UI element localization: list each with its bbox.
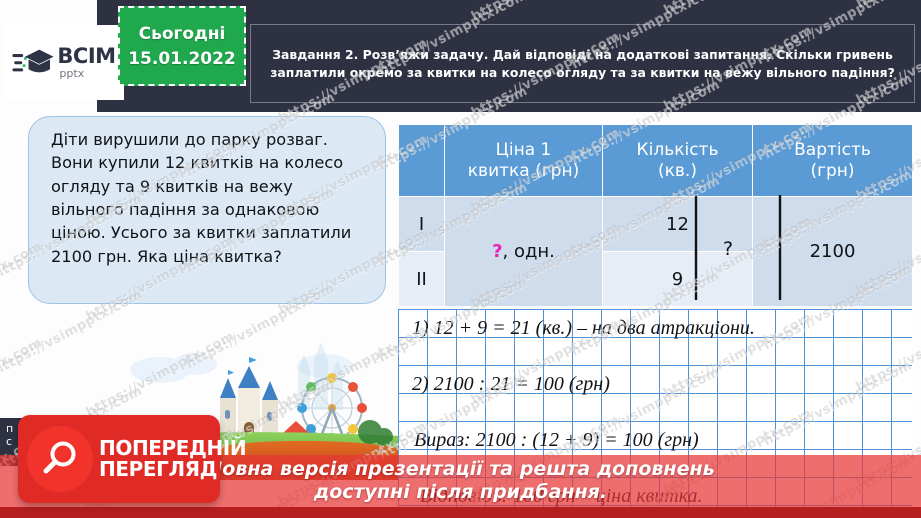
graduation-cap-icon bbox=[12, 46, 54, 80]
preview-badge[interactable]: ПОПЕРЕДНІЙ ПЕРЕГЛЯД bbox=[18, 415, 220, 503]
promo-footer-strip bbox=[0, 507, 921, 518]
preview-label-line2: ПЕРЕГЛЯД bbox=[99, 459, 246, 480]
preview-label-line1: ПОПЕРЕДНІЙ bbox=[99, 438, 246, 459]
table-header-quantity: Кількість (кв.) bbox=[603, 125, 753, 197]
table-header-index bbox=[399, 125, 445, 197]
brand-logo: ВСІМ pptx bbox=[4, 25, 124, 100]
problem-statement-bubble: Діти вирушили до парку розваг. Вони купи… bbox=[28, 116, 386, 304]
cost-total-cell: 2100 bbox=[753, 197, 913, 307]
today-date: 15.01.2022 bbox=[128, 49, 236, 69]
today-label: Сьогодні bbox=[139, 24, 226, 44]
promo-line-1: Повна версія презентації та решта доповн… bbox=[206, 458, 714, 480]
promo-text: Повна версія презентації та решта доповн… bbox=[206, 458, 714, 504]
today-date-badge: Сьогодні 15.01.2022 bbox=[118, 6, 246, 86]
qty-cell-1: 12 bbox=[603, 197, 753, 252]
magnifier-icon bbox=[38, 437, 82, 481]
row-index-1: I bbox=[399, 197, 445, 252]
problem-data-table: Ціна 1 квитка (грн) Кількість (кв.) Варт… bbox=[398, 124, 913, 307]
row-index-2: II bbox=[399, 252, 445, 307]
promo-line-2: доступні після придбання. bbox=[314, 481, 607, 503]
problem-statement-text: Діти вирушили до парку розваг. Вони купи… bbox=[51, 128, 369, 268]
task-title-text: Завдання 2. Розв’яжи задачу. Дай відпові… bbox=[260, 46, 905, 81]
preview-icon-circle bbox=[27, 426, 93, 492]
table-row: I ?, одн. 12 2100 bbox=[399, 197, 913, 252]
task-title-box: Завдання 2. Розв’яжи задачу. Дай відпові… bbox=[250, 24, 915, 103]
solution-step-1: 1) 12 + 9 = 21 (кв.) – на два атракціони… bbox=[398, 317, 912, 340]
price-cell: ?, одн. bbox=[445, 197, 603, 307]
slide-canvas: ВСІМ pptx Сьогодні 15.01.2022 Завдання 2… bbox=[0, 0, 921, 518]
logo-subtitle: pptx bbox=[59, 68, 115, 79]
solution-step-2: 2) 2100 : 21 = 100 (грн) bbox=[398, 373, 912, 396]
logo-title: ВСІМ bbox=[57, 46, 115, 67]
solution-expression: Вираз: 2100 : (12 + 9) = 100 (грн) bbox=[398, 429, 912, 452]
table-header-cost: Вартість (грн) bbox=[753, 125, 913, 197]
table-header-price: Ціна 1 квитка (грн) bbox=[445, 125, 603, 197]
qty-cell-2: 9 bbox=[603, 252, 753, 307]
price-unit: , одн. bbox=[503, 241, 555, 262]
table-header-row: Ціна 1 квитка (грн) Кількість (кв.) Варт… bbox=[399, 125, 913, 197]
price-unknown: ? bbox=[492, 241, 502, 262]
